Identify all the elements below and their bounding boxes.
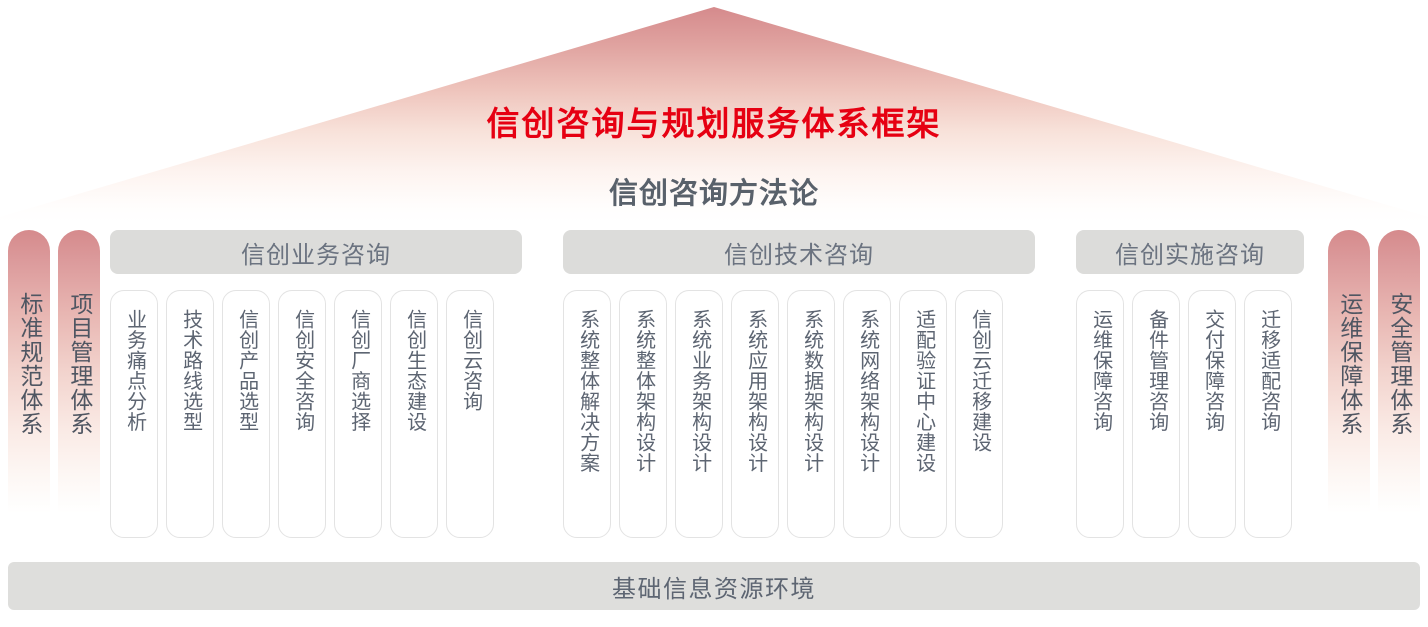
pillar-ops-guarantee: 运维保障体系 [1328, 230, 1370, 552]
card-label: 系统网络架构设计 [855, 309, 878, 473]
card-label: 系统应用架构设计 [743, 309, 766, 473]
card-item[interactable]: 信创生态建设 [390, 290, 438, 538]
card-label: 系统整体架构设计 [631, 309, 654, 473]
card-label: 迁移适配咨询 [1256, 309, 1279, 432]
page-subtitle: 信创咨询方法论 [0, 170, 1428, 212]
pillar-label: 标准规范体系 [16, 292, 42, 436]
card-item[interactable]: 系统网络架构设计 [843, 290, 891, 538]
card-label: 交付保障咨询 [1200, 309, 1223, 432]
pillar-label: 安全管理体系 [1386, 292, 1412, 436]
card-label: 备件管理咨询 [1144, 309, 1167, 432]
card-label: 运维保障咨询 [1088, 309, 1111, 432]
pillar-label: 运维保障体系 [1336, 292, 1362, 436]
card-label: 系统整体解决方案 [575, 309, 598, 473]
group-implementation-consulting: 信创实施咨询 运维保障咨询 备件管理咨询 交付保障咨询 迁移适配咨询 [1076, 230, 1304, 274]
card-label: 系统数据架构设计 [799, 309, 822, 473]
card-label: 信创厂商选择 [346, 309, 369, 432]
card-item[interactable]: 技术路线选型 [166, 290, 214, 538]
card-item[interactable]: 信创云咨询 [446, 290, 494, 538]
group-business-consulting: 信创业务咨询 业务痛点分析 技术路线选型 信创产品选型 信创安全咨询 信创厂商选… [110, 230, 522, 274]
card-label: 业务痛点分析 [122, 309, 145, 432]
pillar-security-management: 安全管理体系 [1378, 230, 1420, 552]
card-item[interactable]: 业务痛点分析 [110, 290, 158, 538]
pillar-standard-spec: 标准规范体系 [8, 230, 50, 552]
group-technical-consulting: 信创技术咨询 系统整体解决方案 系统整体架构设计 系统业务架构设计 系统应用架构… [563, 230, 1035, 274]
card-label: 信创云咨询 [458, 309, 481, 412]
card-item[interactable]: 系统整体解决方案 [563, 290, 611, 538]
card-item[interactable]: 备件管理咨询 [1132, 290, 1180, 538]
card-label: 信创安全咨询 [290, 309, 313, 432]
group-card-list: 运维保障咨询 备件管理咨询 交付保障咨询 迁移适配咨询 [1076, 290, 1292, 538]
card-label: 信创生态建设 [402, 309, 425, 432]
diagram-canvas: 信创咨询与规划服务体系框架 信创咨询方法论 标准规范体系 项目管理体系 运维保障… [0, 0, 1428, 627]
card-item[interactable]: 交付保障咨询 [1188, 290, 1236, 538]
card-label: 信创产品选型 [234, 309, 257, 432]
card-item[interactable]: 系统数据架构设计 [787, 290, 835, 538]
card-label: 技术路线选型 [178, 309, 201, 432]
group-card-list: 业务痛点分析 技术路线选型 信创产品选型 信创安全咨询 信创厂商选择 信创生态建… [110, 290, 494, 538]
pillar-label: 项目管理体系 [66, 292, 92, 436]
group-card-list: 系统整体解决方案 系统整体架构设计 系统业务架构设计 系统应用架构设计 系统数据… [563, 290, 1003, 538]
card-label: 适配验证中心建设 [911, 309, 934, 473]
card-item[interactable]: 迁移适配咨询 [1244, 290, 1292, 538]
card-label: 信创云迁移建设 [967, 309, 990, 453]
card-item[interactable]: 信创厂商选择 [334, 290, 382, 538]
card-item[interactable]: 运维保障咨询 [1076, 290, 1124, 538]
card-item[interactable]: 系统应用架构设计 [731, 290, 779, 538]
card-item[interactable]: 信创安全咨询 [278, 290, 326, 538]
group-header: 信创技术咨询 [563, 230, 1035, 274]
group-header: 信创实施咨询 [1076, 230, 1304, 274]
card-label: 系统业务架构设计 [687, 309, 710, 473]
card-item[interactable]: 信创云迁移建设 [955, 290, 1003, 538]
pillar-project-management: 项目管理体系 [58, 230, 100, 552]
page-title: 信创咨询与规划服务体系框架 [0, 97, 1428, 145]
group-header: 信创业务咨询 [110, 230, 522, 274]
card-item[interactable]: 信创产品选型 [222, 290, 270, 538]
card-item[interactable]: 适配验证中心建设 [899, 290, 947, 538]
foundation-bar: 基础信息资源环境 [8, 562, 1420, 610]
card-item[interactable]: 系统业务架构设计 [675, 290, 723, 538]
card-item[interactable]: 系统整体架构设计 [619, 290, 667, 538]
